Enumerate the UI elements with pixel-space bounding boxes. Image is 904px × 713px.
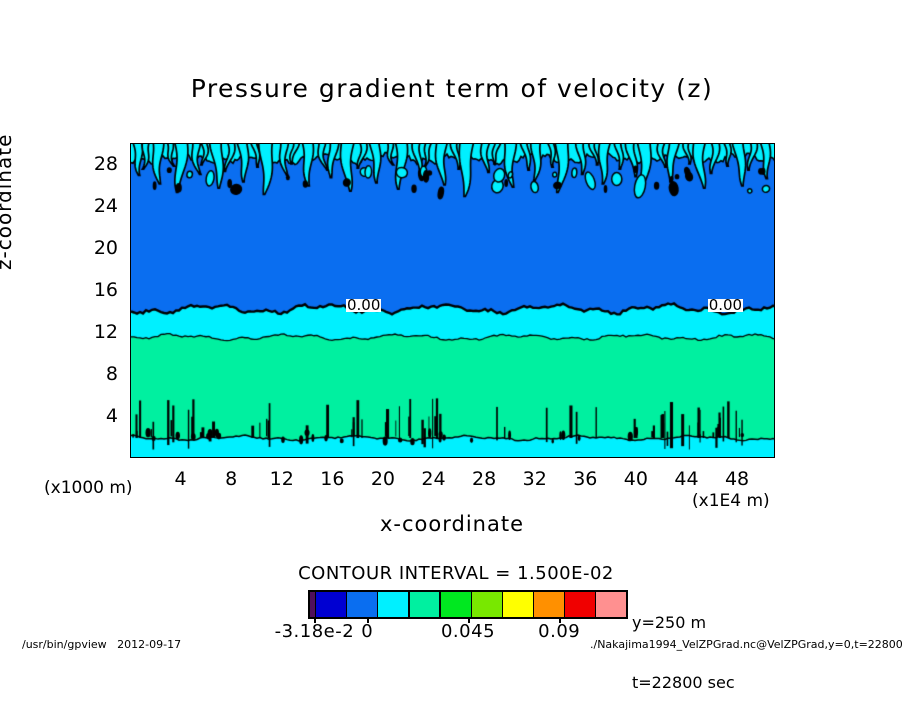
- colorbar-tick-label: 0.09: [538, 621, 580, 642]
- contour-field: [131, 144, 775, 458]
- y-axis-minor-tick-right: [774, 354, 775, 356]
- y-axis-minor-tick: [130, 186, 131, 188]
- x-axis-title: x-coordinate: [0, 512, 904, 536]
- x-axis-minor-tick: [359, 457, 361, 458]
- x-axis-minor-tick-top: [460, 143, 462, 144]
- colorbar-swatch: [534, 592, 564, 617]
- x-axis-tick-top: [435, 143, 437, 144]
- x-axis-tick-label: 48: [707, 468, 767, 490]
- x-axis-minor-tick-top: [763, 143, 765, 144]
- y-axis-tick-label: 28: [78, 153, 118, 175]
- x-axis-tick-top: [232, 143, 234, 144]
- y-axis-minor-tick: [130, 228, 131, 230]
- x-axis-minor-tick: [207, 457, 209, 458]
- x-axis-minor-tick: [156, 457, 158, 458]
- x-axis-tick-top: [283, 143, 285, 144]
- x-axis-minor-tick-top: [409, 143, 411, 144]
- y-axis-tick-right: [774, 333, 775, 335]
- x-axis-minor-tick: [460, 457, 462, 458]
- x-axis-tick-top: [182, 143, 184, 144]
- x-axis-minor-tick-top: [359, 143, 361, 144]
- y-axis-minor-tick-right: [774, 228, 775, 230]
- contour-interval-label: CONTOUR INTERVAL = 1.500E-02: [0, 563, 904, 584]
- colorbar-tick-label: -3.18e-2: [275, 621, 355, 642]
- y-axis-minor-tick-right: [774, 438, 775, 440]
- colorbar-tick-labels: -3.18e-200.0450.09: [308, 619, 628, 637]
- x-axis-tick-top: [637, 143, 639, 144]
- y-axis-minor-tick: [130, 396, 131, 398]
- x-axis-tick: [333, 457, 335, 458]
- x-axis-tick-top: [738, 143, 740, 144]
- x-axis-tick-top: [384, 143, 386, 144]
- x-axis-minor-tick: [561, 457, 563, 458]
- x-axis-minor-tick: [409, 457, 411, 458]
- y-axis-tick-right: [774, 165, 775, 167]
- x-axis-tick: [586, 457, 588, 458]
- x-axis-minor-tick: [308, 457, 310, 458]
- x-axis-tick: [536, 457, 538, 458]
- x-axis-tick: [283, 457, 285, 458]
- x-axis-tick: [738, 457, 740, 458]
- y-axis-tick-right: [774, 207, 775, 209]
- x-axis-minor-tick-top: [561, 143, 563, 144]
- colorbar-swatch: [310, 592, 315, 617]
- y-axis-tick-label: 4: [78, 405, 118, 427]
- footer-command: /usr/bin/gpview 2012-09-17: [22, 638, 181, 651]
- colorbar-tick-label: 0.045: [441, 621, 495, 642]
- colorbar-tick-label: 0: [361, 621, 373, 642]
- x-axis-minor-tick: [257, 457, 259, 458]
- x-axis-tick-top: [586, 143, 588, 144]
- x-axis-minor-tick: [662, 457, 664, 458]
- annotation-y-value: y=250 m: [632, 613, 735, 633]
- x-axis-tick-top: [485, 143, 487, 144]
- x-axis-minor-tick: [763, 457, 765, 458]
- x-axis-unit-right: (x1E4 m): [692, 491, 770, 511]
- x-axis-minor-tick-top: [713, 143, 715, 144]
- colorbar-swatch: [565, 592, 595, 617]
- colorbar-swatch: [441, 592, 471, 617]
- y-axis-tick-right: [774, 375, 775, 377]
- y-axis-minor-tick-right: [774, 144, 775, 146]
- y-axis-tick-label: 16: [78, 279, 118, 301]
- annotation-t-value: t=22800 sec: [632, 673, 735, 693]
- contour-level-label: 0.00: [708, 299, 743, 312]
- colorbar-swatch: [596, 592, 626, 617]
- y-axis-tick-label: 12: [78, 321, 118, 343]
- y-axis-tick-label: 24: [78, 195, 118, 217]
- x-axis-tick: [637, 457, 639, 458]
- x-axis-minor-tick-top: [510, 143, 512, 144]
- x-axis-tick: [384, 457, 386, 458]
- colorbar-swatch: [316, 592, 346, 617]
- footer-dataset: ./Nakajima1994_VelZPGrad.nc@VelZPGrad,y=…: [590, 638, 903, 651]
- x-axis-minor-tick-top: [207, 143, 209, 144]
- page-title: Pressure gradient term of velocity (z): [0, 74, 904, 103]
- x-axis-tick: [232, 457, 234, 458]
- y-axis-minor-tick-right: [774, 312, 775, 314]
- y-axis-tick: [130, 291, 131, 293]
- x-axis-tick-top: [333, 143, 335, 144]
- colorbar: [308, 590, 628, 619]
- x-axis-tick: [485, 457, 487, 458]
- y-axis-tick-right: [774, 249, 775, 251]
- y-axis-title: z-coordinate: [0, 134, 16, 270]
- y-axis-tick: [130, 375, 131, 377]
- x-axis-tick: [435, 457, 437, 458]
- colorbar-swatch: [410, 592, 440, 617]
- y-axis-tick: [130, 165, 131, 167]
- x-axis-minor-tick-top: [612, 143, 614, 144]
- y-axis-tick: [130, 417, 131, 419]
- x-axis-minor-tick-top: [308, 143, 310, 144]
- x-axis-minor-tick: [510, 457, 512, 458]
- y-axis-minor-tick-right: [774, 270, 775, 272]
- contour-level-label: 0.00: [346, 299, 381, 312]
- y-axis-minor-tick: [130, 438, 131, 440]
- y-axis-tick: [130, 249, 131, 251]
- x-axis-tick: [687, 457, 689, 458]
- x-axis-unit-left: (x1000 m): [44, 478, 133, 498]
- y-axis-tick: [130, 333, 131, 335]
- colorbar-swatch: [472, 592, 502, 617]
- x-axis-minor-tick-top: [662, 143, 664, 144]
- x-axis-minor-tick-top: [156, 143, 158, 144]
- y-axis-tick-right: [774, 417, 775, 419]
- x-axis-minor-tick-top: [257, 143, 259, 144]
- x-axis-minor-tick: [713, 457, 715, 458]
- x-axis-tick: [182, 457, 184, 458]
- x-axis-tick-top: [536, 143, 538, 144]
- x-axis-tick-top: [687, 143, 689, 144]
- y-axis-minor-tick: [130, 144, 131, 146]
- contour-plot-area: 0.000.00: [130, 143, 775, 458]
- y-axis-tick: [130, 207, 131, 209]
- y-axis-minor-tick: [130, 312, 131, 314]
- x-axis-minor-tick: [612, 457, 614, 458]
- y-axis-minor-tick-right: [774, 396, 775, 398]
- y-axis-tick-label: 8: [78, 363, 118, 385]
- y-axis-minor-tick: [130, 354, 131, 356]
- colorbar-swatch: [378, 592, 408, 617]
- y-axis-tick-label: 20: [78, 237, 118, 259]
- y-axis-minor-tick: [130, 270, 131, 272]
- colorbar-swatch: [347, 592, 377, 617]
- y-axis-minor-tick-right: [774, 186, 775, 188]
- colorbar-swatch: [503, 592, 533, 617]
- y-axis-tick-right: [774, 291, 775, 293]
